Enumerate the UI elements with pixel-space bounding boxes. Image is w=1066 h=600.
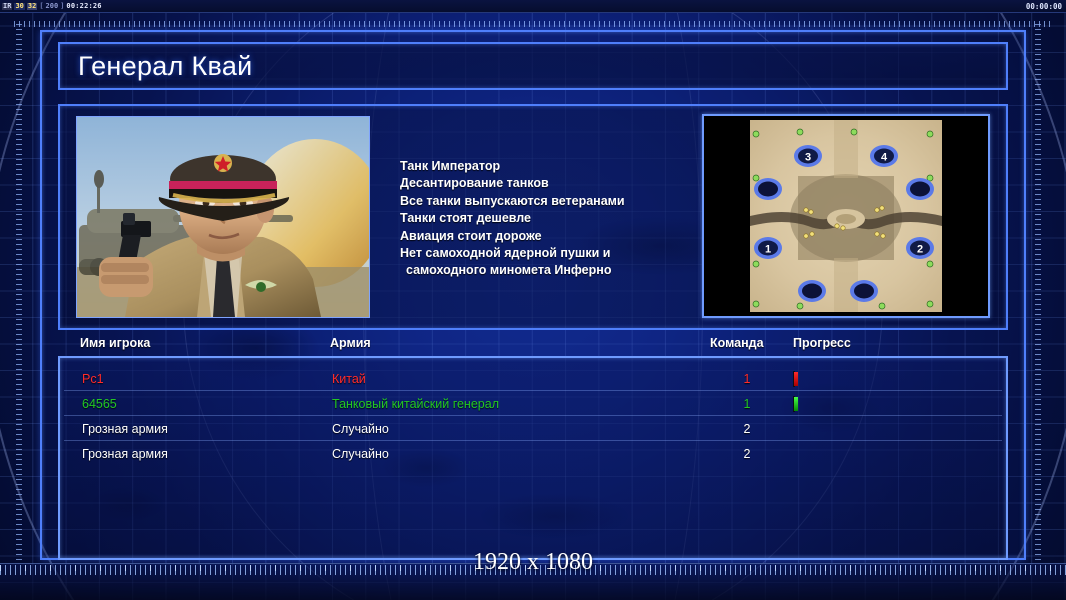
status-num-1: 30 (14, 3, 24, 10)
bracket-open: [ (39, 3, 43, 10)
header-player-name: Имя игрока (80, 336, 150, 350)
table-row[interactable]: Pc1 Китай 1 (60, 366, 1006, 391)
top-status-bar: IR 30 32 [ 200 ] 00:22:26 00:00:00 (0, 0, 1066, 13)
resolution-label: 1920 x 1080 (0, 549, 1066, 576)
player-army: Случайно (332, 447, 389, 461)
player-name: Грозная армия (82, 447, 168, 461)
ability-item: Танки стоят дешевле (400, 210, 700, 227)
player-progress (793, 397, 991, 410)
bracket-value: 200 (46, 3, 59, 10)
map-art: 3 4 1 2 (704, 116, 988, 316)
abilities-list: Танк Император Десантирование танков Все… (400, 158, 700, 280)
ir-label: IR (2, 3, 12, 10)
table-row[interactable]: 64565 Танковый китайский генерал 1 (60, 391, 1006, 416)
ability-item: Десантирование танков (400, 175, 700, 192)
ability-item: Авиация стоит дороже (400, 228, 700, 245)
header-team: Команда (710, 336, 764, 350)
general-info-panel: Танк Император Десантирование танков Все… (58, 104, 1008, 330)
player-team: 2 (736, 447, 758, 461)
players-table-panel: Pc1 Китай 1 64565 Танковый китайский ген… (58, 356, 1008, 560)
svg-text:4: 4 (881, 152, 888, 164)
ability-item: Нет самоходной ядерной пушки и (400, 245, 700, 262)
progress-bar (793, 371, 795, 387)
bracket-close: ] (60, 3, 64, 10)
right-clock: 00:00:00 (1026, 2, 1066, 11)
player-team: 1 (736, 372, 758, 386)
player-army: Танковый китайский генерал (332, 397, 499, 411)
svg-text:1: 1 (765, 244, 771, 256)
player-army: Китай (332, 372, 366, 386)
player-name: 64565 (82, 397, 117, 411)
status-left-group: IR 30 32 [ 200 ] 00:22:26 (0, 3, 102, 10)
page-title: Генерал Квай (60, 51, 253, 82)
table-row[interactable]: Грозная армия Случайно 2 (60, 441, 1006, 466)
status-num-2: 32 (27, 3, 37, 10)
map-preview[interactable]: 3 4 1 2 (702, 114, 990, 318)
title-panel: Генерал Квай (58, 42, 1008, 90)
header-progress: Прогресс (793, 336, 851, 350)
progress-bar (793, 396, 795, 412)
svg-text:2: 2 (917, 244, 923, 256)
header-army: Армия (330, 336, 371, 350)
portrait-art (77, 117, 369, 317)
player-name: Pc1 (82, 372, 104, 386)
player-army: Случайно (332, 422, 389, 436)
ability-item: Все танки выпускаются ветеранами (400, 193, 700, 210)
player-team: 1 (736, 397, 758, 411)
player-name: Грозная армия (82, 422, 168, 436)
skirmish-lobby-screen: IR 30 32 [ 200 ] 00:22:26 00:00:00 Генер… (0, 0, 1066, 600)
table-row[interactable]: Грозная армия Случайно 2 (60, 416, 1006, 441)
ability-item: самоходного миномета Инферно (400, 262, 700, 279)
ability-item: Танк Император (400, 158, 700, 175)
session-clock: 00:22:26 (66, 3, 101, 10)
player-team: 2 (736, 422, 758, 436)
player-progress (793, 372, 991, 385)
general-portrait (76, 116, 370, 318)
players-table-header: Имя игрока Армия Команда Прогресс (60, 336, 1006, 358)
svg-text:3: 3 (805, 152, 811, 164)
